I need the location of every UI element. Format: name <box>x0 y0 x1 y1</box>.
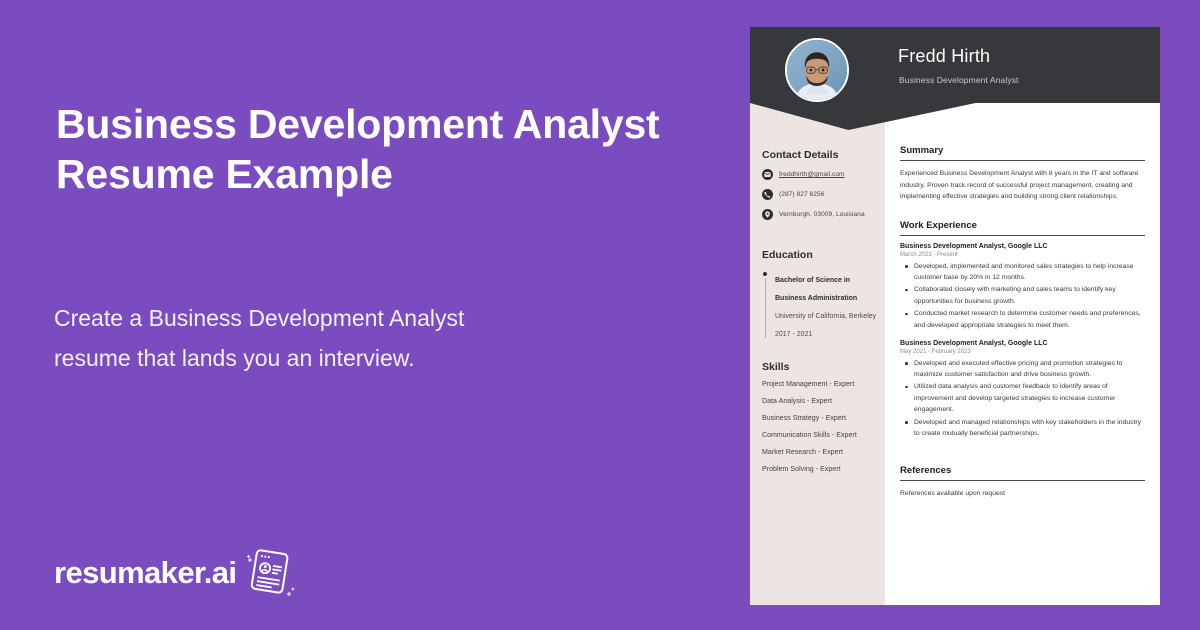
job-dates: May 2021 - February 2023 <box>900 349 1145 355</box>
contact-phone-value: (287) 827 6256 <box>779 191 824 198</box>
resume-name: Fredd Hirth <box>898 46 990 67</box>
email-icon <box>762 169 773 180</box>
job-bullet: Conducted market research to determine c… <box>900 308 1145 331</box>
resume-role: Business Development Analyst <box>899 75 1019 85</box>
portrait-photo-icon <box>787 40 847 100</box>
promo-panel: Business Development Analyst Resume Exam… <box>0 0 750 630</box>
summary-text: Experienced Business Development Analyst… <box>900 168 1145 203</box>
section-spacer <box>900 203 1145 220</box>
resumaker-logo[interactable]: resumaker.ai <box>54 546 298 598</box>
logo-wordmark: resumaker.ai <box>54 557 236 588</box>
work-experience-heading: Work Experience <box>900 220 1145 236</box>
resume-main-content: Summary Experienced Business Development… <box>900 145 1145 500</box>
sidebar-spacer <box>762 229 880 249</box>
references-text: References available upon request <box>900 488 1145 500</box>
skill-item: Data Analysis - Expert <box>762 398 880 405</box>
contact-email-row[interactable]: freddhirth@gmail.com <box>762 169 880 180</box>
references-heading: References <box>900 465 1145 481</box>
education-timeline-marker <box>762 269 769 341</box>
skill-item: Problem Solving - Expert <box>762 466 880 473</box>
contact-location-value: Vernburgh, 03009, Louisiana <box>779 211 865 218</box>
job-bullet: Developed and managed relationships with… <box>900 417 1145 440</box>
education-degree: Bachelor of Science in Business Administ… <box>775 277 857 302</box>
avatar <box>785 38 849 102</box>
section-spacer-2 <box>900 448 1145 465</box>
skill-item: Business Strategy - Expert <box>762 415 880 422</box>
education-heading: Education <box>762 249 880 261</box>
contact-email-value: freddhirth@gmail.com <box>779 171 845 178</box>
page-title: Business Development Analyst Resume Exam… <box>56 99 696 199</box>
skill-item: Market Research - Expert <box>762 449 880 456</box>
job-entry: Business Development Analyst, Google LLC… <box>900 243 1145 331</box>
resume-preview-card[interactable]: Fredd Hirth Business Development Analyst… <box>750 27 1160 605</box>
resume-document-icon <box>242 546 298 598</box>
job-bullet: Collaborated closely with marketing and … <box>900 284 1145 307</box>
job-title: Business Development Analyst, Google LLC <box>900 243 1145 250</box>
skill-item: Project Management - Expert <box>762 381 880 388</box>
job-bullets: Developed and executed effective pricing… <box>900 358 1145 440</box>
contact-phone-row[interactable]: (287) 827 6256 <box>762 189 880 200</box>
sidebar-spacer-2 <box>762 341 880 361</box>
job-bullet: Developed, implemented and monitored sal… <box>900 261 1145 284</box>
job-dates: March 2023 - Present <box>900 252 1145 258</box>
job-bullet: Utilized data analysis and customer feed… <box>900 381 1145 415</box>
contact-details-heading: Contact Details <box>762 149 880 161</box>
job-entry: Business Development Analyst, Google LLC… <box>900 340 1145 439</box>
skill-item: Communication Skills - Expert <box>762 432 880 439</box>
job-bullets: Developed, implemented and monitored sal… <box>900 261 1145 331</box>
resume-sidebar-content: Contact Details freddhirth@gmail.com (28… <box>762 149 880 483</box>
job-title: Business Development Analyst, Google LLC <box>900 340 1145 347</box>
phone-icon <box>762 189 773 200</box>
job-bullet: Developed and executed effective pricing… <box>900 358 1145 381</box>
education-school: University of California, Berkeley <box>775 313 876 320</box>
skills-heading: Skills <box>762 361 880 373</box>
location-icon <box>762 209 773 220</box>
education-entry: Bachelor of Science in Business Administ… <box>762 269 880 341</box>
education-years: 2017 - 2021 <box>775 331 812 338</box>
promo-subtitle: Create a Business Development Analyst re… <box>54 298 524 378</box>
summary-heading: Summary <box>900 145 1145 161</box>
contact-location-row[interactable]: Vernburgh, 03009, Louisiana <box>762 209 880 220</box>
